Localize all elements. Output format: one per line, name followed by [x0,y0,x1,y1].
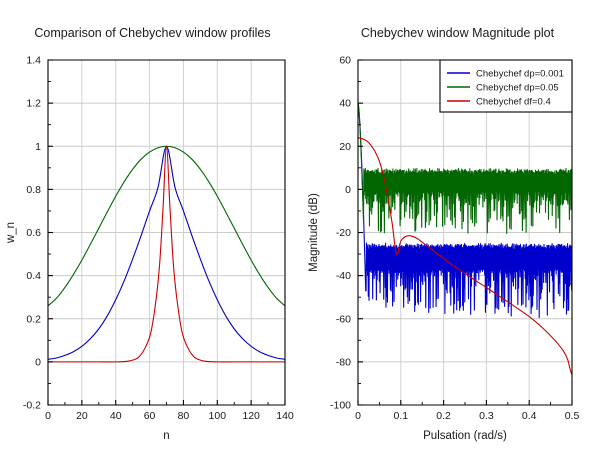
y-tick-label: 0.8 [26,184,41,196]
y-tick-label: -80 [336,356,351,368]
x-tick-label: 0.5 [565,410,580,422]
x-tick-label: 120 [242,410,260,422]
left-plot-area: 020406080100120140-0.200.20.40.60.811.21… [0,0,305,460]
y-tick-label: -100 [330,400,351,412]
y-tick-label: 0 [35,356,41,368]
right-plot-area: 00.10.20.30.40.5-100-80-60-40-200204060P… [305,0,610,460]
x-tick-label: 140 [276,410,294,422]
x-tick-label: 80 [178,410,190,422]
x-axis-label: n [163,430,169,442]
y-tick-label: 0 [345,184,351,196]
y-tick-label: 0.2 [26,313,41,325]
y-axis-label: Magnitude (dB) [308,193,320,272]
x-tick-label: 0.2 [436,410,451,422]
series-line [48,146,285,362]
x-tick-label: 0.3 [479,410,494,422]
legend: Chebychef dp=0.001Chebychef dp=0.05Cheby… [440,60,572,112]
x-tick-label: 0 [355,410,361,422]
tick-labels: 020406080100120140-0.200.20.40.60.811.21… [23,55,294,422]
series-group [358,103,572,375]
y-tick-label: 0.4 [26,270,41,282]
chart-panel-magnitude: Chebychev window Magnitude plot 00.10.20… [305,0,610,460]
x-tick-label: 100 [209,410,227,422]
y-tick-label: -40 [336,270,351,282]
y-tick-label: 1.4 [26,55,41,67]
y-axis-label: w_n [5,222,17,244]
x-tick-label: 0 [45,410,51,422]
y-tick-label: 20 [339,141,351,153]
x-axis-label: Pulsation (rad/s) [423,430,507,442]
y-tick-label: -20 [336,227,351,239]
y-tick-label: 1 [35,141,41,153]
x-tick-label: 0.4 [522,410,537,422]
y-tick-label: 60 [339,55,351,67]
legend-label: Chebychef df=0.4 [476,96,551,107]
series-group [48,146,285,362]
grid-lines [48,60,285,405]
x-tick-label: 60 [144,410,156,422]
legend-label: Chebychef dp=0.05 [476,82,559,93]
chart-panel-window-profiles: Comparison of Chebychev window profiles … [0,0,305,460]
y-tick-label: -0.2 [23,400,41,412]
series-line [48,146,285,306]
x-tick-label: 20 [76,410,88,422]
x-tick-label: 0.1 [393,410,408,422]
y-tick-label: -60 [336,313,351,325]
series-line [48,146,285,359]
figure-canvas: Comparison of Chebychev window profiles … [0,0,610,460]
y-tick-label: 0.6 [26,227,41,239]
y-tick-label: 1.2 [26,98,41,110]
series-line [358,103,572,233]
x-tick-label: 40 [110,410,122,422]
legend-label: Chebychef dp=0.001 [476,68,564,79]
y-tick-label: 40 [339,98,351,110]
